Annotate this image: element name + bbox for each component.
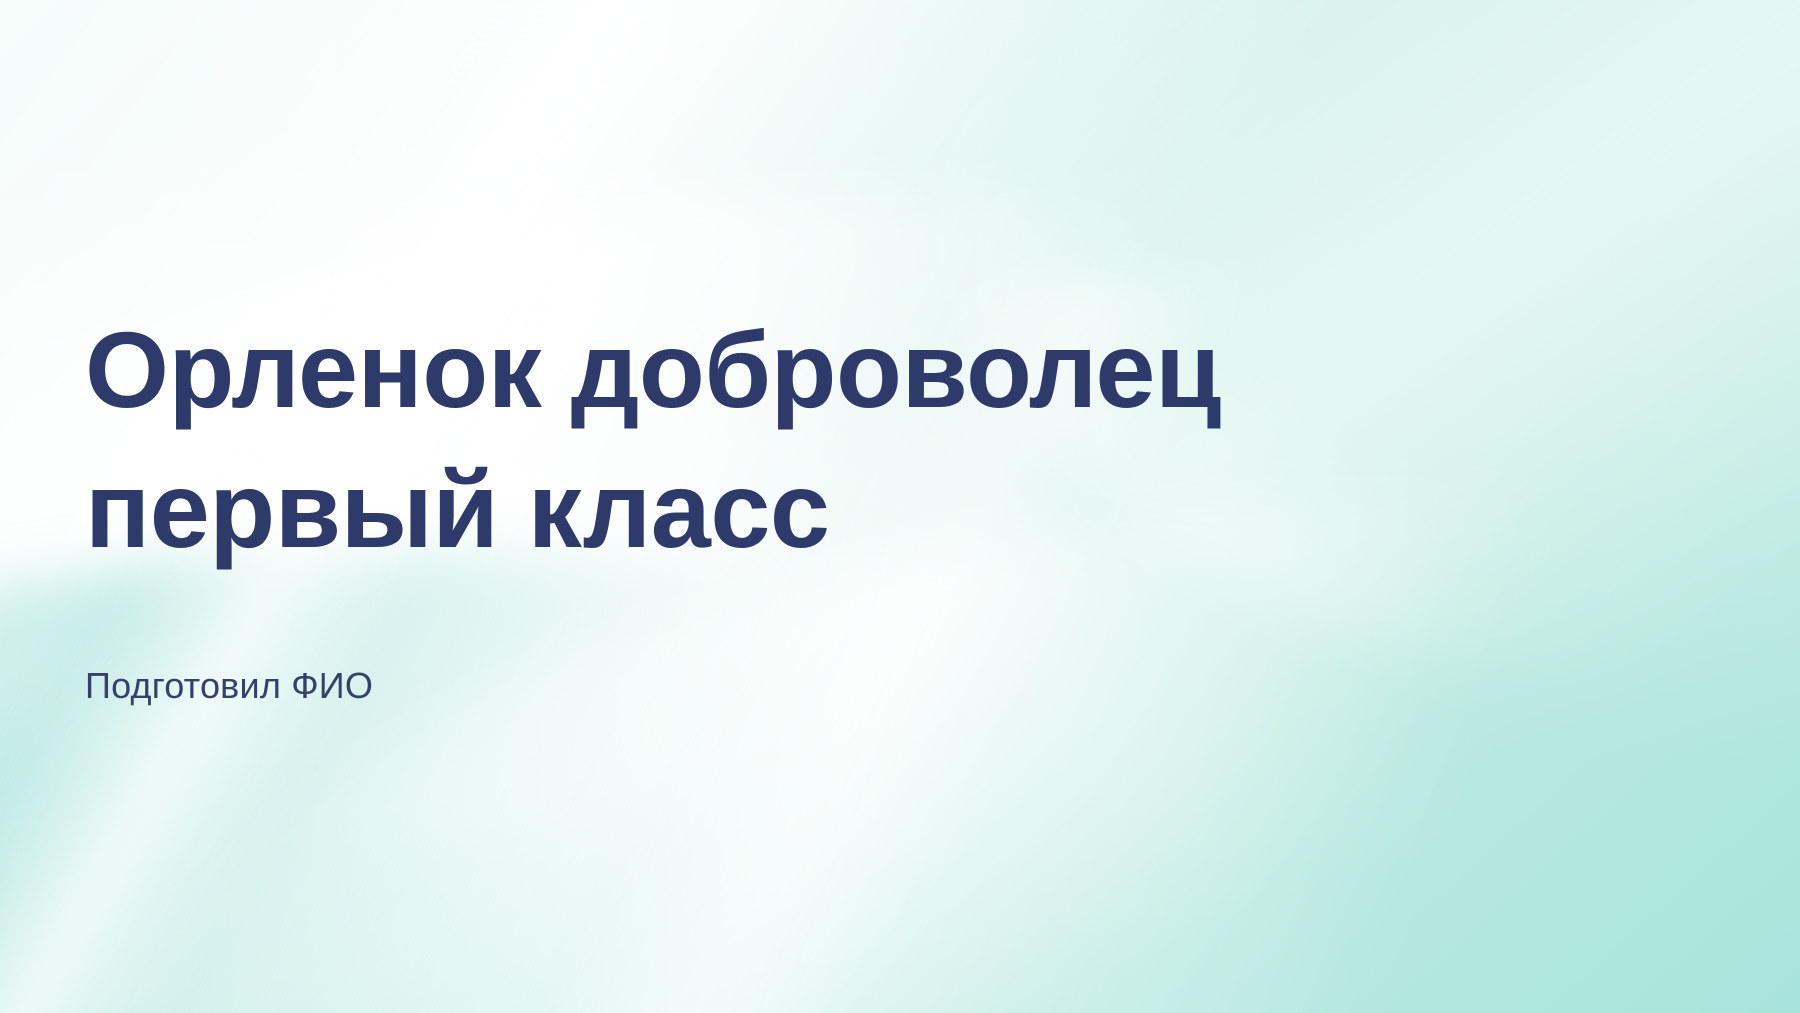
slide-subtitle: Подготовил ФИО xyxy=(85,580,1425,708)
slide-title: Орленок доброволец первый класс xyxy=(85,300,1425,580)
slide-text-block: Орленок доброволец первый класс Подготов… xyxy=(85,300,1425,708)
title-slide: Орленок доброволец первый класс Подготов… xyxy=(0,0,1800,1013)
